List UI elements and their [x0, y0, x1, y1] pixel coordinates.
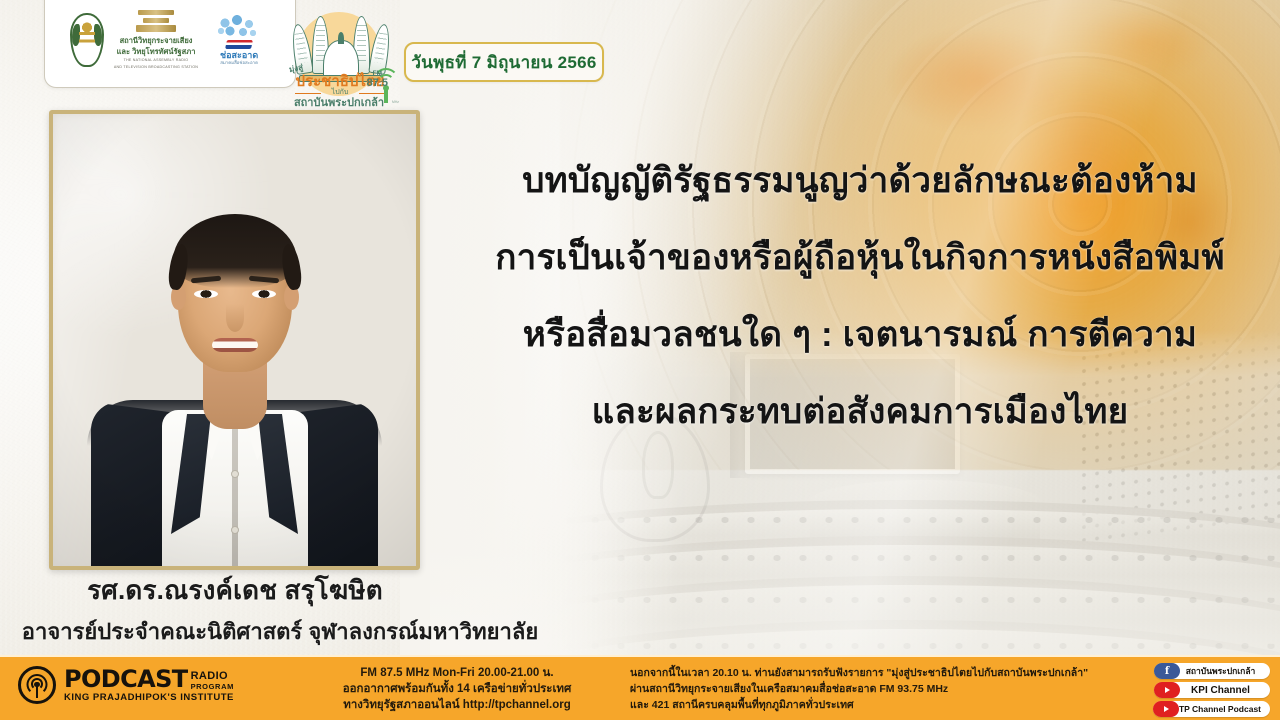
speaker-portrait — [49, 110, 420, 570]
partner-logo-card: สถานีวิทยุกระจายเสียง และ วิทยุโทรทัศน์ร… — [44, 0, 296, 88]
program-wordmark: PROGRAM — [191, 682, 234, 691]
broadcast-info-block: FM 87.5 MHz Mon-Fri 20.00-21.00 น. ออกอา… — [292, 665, 622, 713]
broadcast-antenna-icon — [18, 666, 56, 704]
youtube-icon — [1153, 701, 1179, 717]
extra-info-block: นอกจากนี้ในเวลา 20.10 น. ท่านยังสามารถรั… — [630, 665, 1100, 713]
radio-wordmark: RADIO — [191, 671, 234, 682]
nabc-english-line-2: AND TELEVISION BROADCASTING STATION — [114, 65, 198, 70]
chamber-seats — [560, 550, 1280, 566]
broadcast-info-line-2: ออกอากาศพร้อมกันทั้ง 14 เครือข่ายทั่วประ… — [292, 681, 622, 697]
institute-wordmark: KING PRAJADHIPOK'S INSTITUTE — [64, 693, 234, 703]
podcast-radio-logo: PODCAST RADIO PROGRAM KING PRAJADHIPOK'S… — [18, 666, 234, 704]
garuda-emblem-icon — [70, 13, 104, 67]
date-badge: วันพุธที่ 7 มิถุนายน 2566 — [404, 42, 604, 82]
title-line-2: การเป็นเจ้าของหรือผู้ถือหุ้นในกิจการหนัง… — [455, 219, 1265, 296]
extra-info-line-1: นอกจากนี้ในเวลา 20.10 น. ท่านยังสามารถรั… — [630, 665, 1100, 681]
speaker-role: อาจารย์ประจำคณะนิติศาสตร์ จุฬาลงกรณ์มหาว… — [0, 614, 560, 649]
social-link-tp-channel-podcast[interactable]: TP Channel Podcast — [1153, 701, 1270, 717]
extra-info-line-3: และ 421 สถานีครบคลุมพื้นที่ทุกภูมิภาคทั่… — [630, 697, 1100, 713]
fm-unit-label: MHz — [392, 100, 399, 104]
nabc-thai-line-2: และ วิทยุโทรทัศน์รัฐสภา — [117, 47, 196, 56]
chor-sa-ard-subtitle: สมาคมสื่อช่อสะอาด — [220, 60, 258, 66]
social-label-tp-channel-podcast: TP Channel Podcast — [1179, 704, 1261, 714]
title-line-3: หรือสื่อมวลชนใด ๆ : เจตนารมณ์ การตีความ — [455, 296, 1265, 373]
social-label-kpi-channel: KPI Channel — [1180, 685, 1261, 696]
speaker-name: รศ.ดร.ณรงค์เดช สรุโฆษิต — [0, 570, 470, 611]
parliament-broadcast-logo: สถานีวิทยุกระจายเสียง และ วิทยุโทรทัศน์ร… — [114, 10, 198, 70]
fm-frequency: 87.5 — [367, 77, 388, 89]
youtube-icon — [1154, 682, 1180, 698]
chor-sa-ard-title: ช่อสะอาด — [220, 50, 258, 60]
nabc-thai-line-1: สถานีวิทยุกระจายเสียง — [120, 36, 193, 45]
title-line-1: บทบัญญัติรัฐธรรมนูญว่าด้วยลักษณะต้องห้าม — [455, 142, 1265, 219]
social-link-facebook[interactable]: f สถาบันพระปกเกล้า — [1154, 663, 1270, 679]
chamber-seats — [560, 592, 1280, 608]
parliament-bars-icon — [136, 10, 176, 32]
fm-label: FM — [373, 70, 382, 77]
broadcast-info-line-3: ทางวิทยุรัฐสภาออนไลน์ http://tpchannel.o… — [292, 697, 622, 713]
title-line-4: และผลกระทบต่อสังคมการเมืองไทย — [455, 373, 1265, 450]
presentation-title: บทบัญญัติรัฐธรรมนูญว่าด้วยลักษณะต้องห้าม… — [455, 142, 1265, 450]
broadcast-info-line-1: FM 87.5 MHz Mon-Fri 20.00-21.00 น. — [292, 665, 622, 681]
social-link-kpi-channel[interactable]: KPI Channel — [1154, 682, 1270, 698]
extra-info-line-2: ผ่านสถานีวิทยุกระจายเสียงในเครือสมาคมสื่… — [630, 681, 1100, 697]
flower-bloom-icon — [217, 15, 261, 43]
nabc-english-line-1: THE NATIONAL ASSEMBLY RADIO — [124, 58, 189, 63]
chamber-seats — [560, 638, 1280, 654]
chor-sa-ard-logo: ช่อสะอาด สมาคมสื่อช่อสะอาด — [208, 15, 270, 66]
thai-flag-ribbon-icon — [225, 40, 253, 49]
footer-bar: PODCAST RADIO PROGRAM KING PRAJADHIPOK'S… — [0, 655, 1280, 720]
social-label-facebook: สถาบันพระปกเกล้า — [1180, 664, 1261, 678]
podcast-wordmark: PODCAST — [64, 667, 188, 691]
poster-stage: สถานีวิทยุกระจายเสียง และ วิทยุโทรทัศน์ร… — [0, 0, 1280, 720]
facebook-icon: f — [1154, 663, 1180, 679]
social-links: f สถาบันพระปกเกล้า KPI Channel TP Channe… — [1110, 663, 1270, 717]
democracy-campaign-logo: มุ่งสู่ ประชาธิปไตย ไปกับ สถาบันพระปกเกล… — [283, 6, 401, 114]
